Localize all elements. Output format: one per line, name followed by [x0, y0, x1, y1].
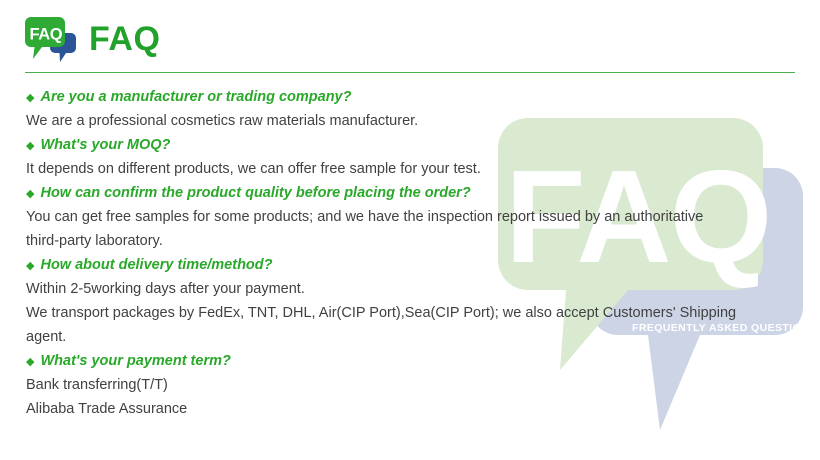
faq-answer-line: third-party laboratory. — [26, 229, 801, 253]
faq-page: FAQ FREQUENTLY ASKED QUESTIONS FAQ FAQ ◆… — [0, 0, 820, 460]
diamond-bullet-icon: ◆ — [26, 86, 34, 110]
faq-speech-bubble-icon: FAQ — [25, 15, 77, 63]
faq-question[interactable]: ◆Are you a manufacturer or trading compa… — [26, 85, 801, 109]
faq-question[interactable]: ◆What's your payment term? — [26, 349, 801, 373]
faq-question-text: Are you a manufacturer or trading compan… — [40, 85, 351, 109]
faq-answer-line: We are a professional cosmetics raw mate… — [26, 109, 801, 133]
faq-item: ◆How can confirm the product quality bef… — [26, 181, 801, 253]
faq-list: ◆Are you a manufacturer or trading compa… — [26, 85, 801, 421]
faq-item: ◆How about delivery time/method?Within 2… — [26, 253, 801, 349]
faq-question[interactable]: ◆How can confirm the product quality bef… — [26, 181, 801, 205]
faq-item: ◆What's your MOQ?It depends on different… — [26, 133, 801, 181]
faq-answer-line: We transport packages by FedEx, TNT, DHL… — [26, 301, 801, 325]
faq-question-text: What's your MOQ? — [40, 133, 170, 157]
diamond-bullet-icon: ◆ — [26, 254, 34, 278]
faq-answer-line: It depends on different products, we can… — [26, 157, 801, 181]
faq-question[interactable]: ◆What's your MOQ? — [26, 133, 801, 157]
faq-answer-line: Alibaba Trade Assurance — [26, 397, 801, 421]
faq-item: ◆What's your payment term?Bank transferr… — [26, 349, 801, 421]
page-title: FAQ — [89, 22, 160, 56]
faq-answer-line: You can get free samples for some produc… — [26, 205, 801, 229]
faq-question-text: How can confirm the product quality befo… — [40, 181, 470, 205]
logo-badge-text: FAQ — [30, 26, 63, 44]
faq-question-text: What's your payment term? — [40, 349, 230, 373]
faq-question-text: How about delivery time/method? — [40, 253, 272, 277]
diamond-bullet-icon: ◆ — [26, 182, 34, 206]
faq-answer-line: Within 2-5working days after your paymen… — [26, 277, 801, 301]
diamond-bullet-icon: ◆ — [26, 134, 34, 158]
faq-question[interactable]: ◆How about delivery time/method? — [26, 253, 801, 277]
faq-answer-line: agent. — [26, 325, 801, 349]
header-divider — [25, 72, 795, 73]
diamond-bullet-icon: ◆ — [26, 350, 34, 374]
faq-item: ◆Are you a manufacturer or trading compa… — [26, 85, 801, 133]
page-header: FAQ FAQ — [25, 14, 160, 64]
faq-answer-line: Bank transferring(T/T) — [26, 373, 801, 397]
